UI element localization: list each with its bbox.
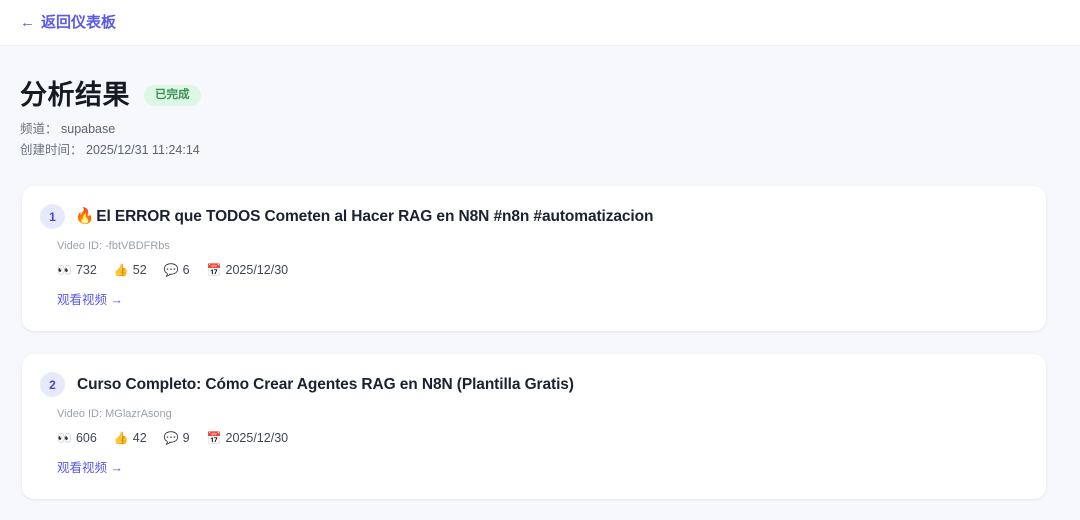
views-value: 732 (76, 264, 97, 277)
card-header: 2 Curso Completo: Cómo Crear Agentes RAG… (40, 372, 1026, 397)
comments-stat: 💬 6 (164, 264, 190, 277)
date-stat: 📅 2025/12/30 (207, 432, 289, 445)
watch-video-link[interactable]: 观看视频 → (57, 460, 123, 476)
stats-row: 👀 732 👍 52 💬 6 📅 2025/12/30 (57, 264, 1026, 277)
video-id-value: -fbtVBDFRbs (105, 240, 170, 252)
created-meta: 创建时间： 2025/12/31 11:24:14 (20, 141, 1060, 159)
thumbs-up-icon: 👍 (114, 432, 129, 444)
result-card[interactable]: 2 Curso Completo: Cómo Crear Agentes RAG… (22, 354, 1046, 499)
date-value: 2025/12/30 (226, 432, 289, 445)
back-to-dashboard-link[interactable]: ← 返回仪表板 (20, 15, 116, 30)
views-stat: 👀 606 (57, 432, 97, 445)
card-title: 🔥El ERROR que TODOS Cometen al Hacer RAG… (75, 206, 653, 227)
eyes-icon: 👀 (57, 264, 72, 276)
card-title-text: Curso Completo: Cómo Crear Agentes RAG e… (77, 376, 574, 393)
thumbs-up-icon: 👍 (114, 264, 129, 276)
calendar-icon: 📅 (207, 264, 222, 276)
created-label: 创建时间： (20, 143, 83, 157)
video-id-value: MGlazrAsong (105, 408, 172, 420)
stats-row: 👀 606 👍 42 💬 9 📅 2025/12/30 (57, 432, 1026, 445)
top-bar: ← 返回仪表板 (0, 0, 1080, 46)
likes-value: 42 (133, 432, 147, 445)
video-id-label: Video ID: (57, 240, 102, 252)
views-stat: 👀 732 (57, 264, 97, 277)
comments-value: 9 (183, 432, 190, 445)
created-value: 2025/12/31 11:24:14 (86, 143, 200, 157)
arrow-left-icon: ← (20, 15, 35, 30)
flame-icon: 🔥 (75, 207, 94, 225)
likes-stat: 👍 42 (114, 432, 147, 445)
date-stat: 📅 2025/12/30 (207, 264, 289, 277)
calendar-icon: 📅 (207, 432, 222, 444)
date-value: 2025/12/30 (226, 264, 289, 277)
rank-badge: 1 (40, 204, 65, 229)
speech-balloon-icon: 💬 (164, 264, 179, 276)
channel-label: 频道： (20, 122, 58, 136)
title-row: 分析结果 已完成 (20, 80, 1060, 111)
video-id-row: Video ID: MGlazrAsong (57, 407, 1026, 422)
comments-value: 6 (183, 264, 190, 277)
card-title-text: El ERROR que TODOS Cometen al Hacer RAG … (96, 208, 653, 225)
watch-video-label: 观看视频 (57, 461, 107, 475)
back-link-label: 返回仪表板 (41, 15, 116, 30)
comments-stat: 💬 9 (164, 432, 190, 445)
eyes-icon: 👀 (57, 432, 72, 444)
views-value: 606 (76, 432, 97, 445)
result-card[interactable]: 1 🔥El ERROR que TODOS Cometen al Hacer R… (22, 186, 1046, 331)
results-list: 1 🔥El ERROR que TODOS Cometen al Hacer R… (0, 159, 1080, 499)
channel-value: supabase (61, 122, 115, 136)
rank-badge: 2 (40, 372, 65, 397)
speech-balloon-icon: 💬 (164, 432, 179, 444)
watch-video-link[interactable]: 观看视频 → (57, 292, 123, 308)
watch-video-label: 观看视频 (57, 293, 107, 307)
arrow-right-icon: → (111, 293, 124, 307)
video-id-label: Video ID: (57, 408, 102, 420)
card-header: 1 🔥El ERROR que TODOS Cometen al Hacer R… (40, 204, 1026, 229)
card-title: Curso Completo: Cómo Crear Agentes RAG e… (75, 374, 574, 395)
video-id-row: Video ID: -fbtVBDFRbs (57, 239, 1026, 254)
page-title: 分析结果 (20, 80, 130, 111)
status-badge: 已完成 (144, 85, 201, 107)
likes-value: 52 (133, 264, 147, 277)
channel-meta: 频道： supabase (20, 120, 1060, 138)
likes-stat: 👍 52 (114, 264, 147, 277)
page-header: 分析结果 已完成 频道： supabase 创建时间： 2025/12/31 1… (0, 46, 1080, 159)
arrow-right-icon: → (111, 461, 124, 475)
